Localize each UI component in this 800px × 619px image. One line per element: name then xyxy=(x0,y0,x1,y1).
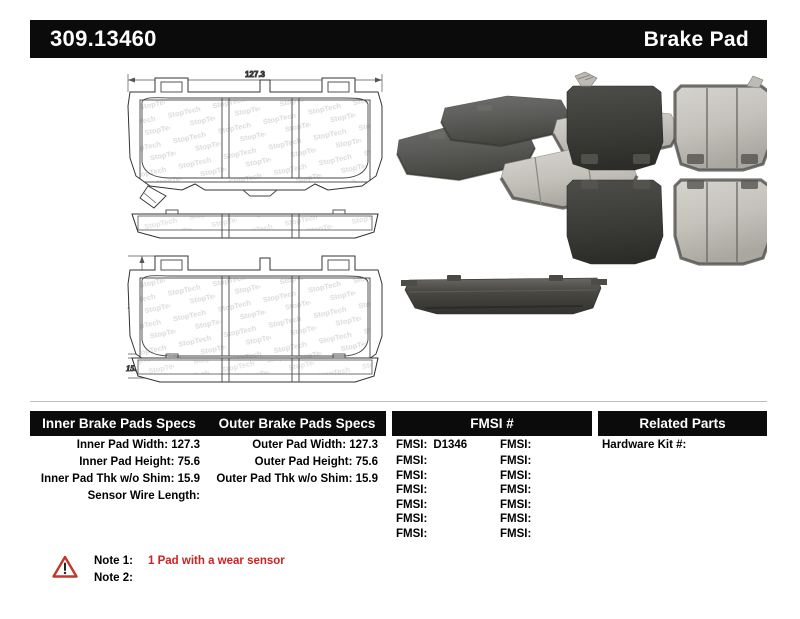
fmsi-value: D1346 xyxy=(427,439,467,451)
header-bar: 309.13460 Brake Pad xyxy=(30,20,767,58)
fmsi-label: FMSI: xyxy=(500,483,600,498)
inner-specs-column: Inner Pad Width: 127.3 Inner Pad Height:… xyxy=(30,436,208,505)
column-header-inner-specs: Inner Brake Pads Specs xyxy=(30,411,208,436)
outer-spec-item: Outer Pad Width: 127.3 xyxy=(208,436,378,454)
fmsi-row: FMSI: xyxy=(396,498,496,513)
fmsi-label: FMSI: xyxy=(500,512,600,527)
fmsi-label: FMSI: xyxy=(500,436,600,454)
technical-drawing: StopTech StopTech xyxy=(110,66,430,386)
fmsi-row: FMSI: xyxy=(396,527,496,542)
fmsi-row: FMSI: xyxy=(396,469,496,484)
fmsi-row: FMSI:D1346 xyxy=(396,436,496,454)
column-header-outer-specs: Outer Brake Pads Specs xyxy=(208,411,386,436)
fmsi-row: FMSI: xyxy=(396,512,496,527)
note-labels: Note 1: Note 2: xyxy=(94,553,154,587)
photo-pad-side-profile xyxy=(401,275,607,314)
fmsi-label: FMSI: xyxy=(396,499,427,511)
drawing-area: StopTech StopTech xyxy=(30,66,767,386)
fmsi-row: FMSI: xyxy=(396,454,496,469)
inner-spec-item: Inner Pad Width: 127.3 xyxy=(30,436,200,454)
note-1-value: 1 Pad with a wear sensor xyxy=(148,553,468,570)
fmsi-column-b: FMSI: FMSI: FMSI: FMSI: FMSI: FMSI: FMSI… xyxy=(500,436,600,541)
dimension-width-label: 127.3 xyxy=(245,70,266,79)
note-values: 1 Pad with a wear sensor xyxy=(148,553,468,587)
outer-specs-column: Outer Pad Width: 127.3 Outer Pad Height:… xyxy=(208,436,386,488)
fmsi-value xyxy=(427,513,433,525)
warning-triangle-icon xyxy=(52,555,78,579)
fmsi-value xyxy=(427,499,433,511)
outer-spec-item: Outer Pad Thk w/o Shim: 15.9 xyxy=(208,471,378,488)
note-1-label: Note 1: xyxy=(94,553,154,570)
fmsi-value xyxy=(427,528,433,540)
product-type-label: Brake Pad xyxy=(644,29,749,50)
fmsi-label: FMSI: xyxy=(396,470,427,482)
fmsi-value xyxy=(427,455,433,467)
fmsi-row: FMSI: xyxy=(396,483,496,498)
fmsi-column-a: FMSI:D1346 FMSI: FMSI: FMSI: FMSI: FMSI: xyxy=(396,436,496,541)
note-2-label: Note 2: xyxy=(94,570,154,587)
fmsi-label: FMSI: xyxy=(500,469,600,484)
fmsi-label: FMSI: xyxy=(500,454,600,469)
table-divider xyxy=(30,401,767,402)
product-spec-sheet: 309.13460 Brake Pad StopTech StopTech xyxy=(0,0,800,619)
fmsi-label: FMSI: xyxy=(396,484,427,496)
fmsi-label: FMSI: xyxy=(500,498,600,513)
outer-spec-item: Outer Pad Height: 75.6 xyxy=(208,454,378,471)
fmsi-label: FMSI: xyxy=(396,455,427,467)
hardware-kit-label: Hardware Kit #: xyxy=(602,436,767,454)
pad-front-view-top xyxy=(128,78,382,208)
product-photo-area xyxy=(385,68,767,386)
note-2-value xyxy=(148,570,468,587)
fmsi-value xyxy=(427,470,433,482)
inner-spec-item: Sensor Wire Length: xyxy=(30,488,200,505)
fmsi-label: FMSI: xyxy=(396,528,427,540)
fmsi-label: FMSI: xyxy=(396,513,427,525)
related-parts-column: Hardware Kit #: xyxy=(602,436,767,454)
part-number: 309.13460 xyxy=(50,28,157,50)
fmsi-label: FMSI: xyxy=(500,527,600,542)
technical-drawing-svg: StopTech StopTech xyxy=(110,66,430,386)
fmsi-label: FMSI: xyxy=(396,439,427,451)
fmsi-value xyxy=(427,484,433,496)
inner-spec-item: Inner Pad Height: 75.6 xyxy=(30,454,200,471)
inner-spec-item: Inner Pad Thk w/o Shim: 15.9 xyxy=(30,471,200,488)
product-photos-svg xyxy=(385,68,767,386)
notes-section: Note 1: Note 2: 1 Pad with a wear sensor xyxy=(52,553,552,601)
pad-edge-view-bottom xyxy=(132,354,378,382)
table-header-row: Inner Brake Pads Specs Outer Brake Pads … xyxy=(30,411,767,436)
photo-pads-grid xyxy=(567,72,767,264)
pad-edge-view-top xyxy=(132,210,378,238)
column-header-fmsi: FMSI # xyxy=(392,411,592,436)
column-header-related-parts: Related Parts xyxy=(598,411,767,436)
